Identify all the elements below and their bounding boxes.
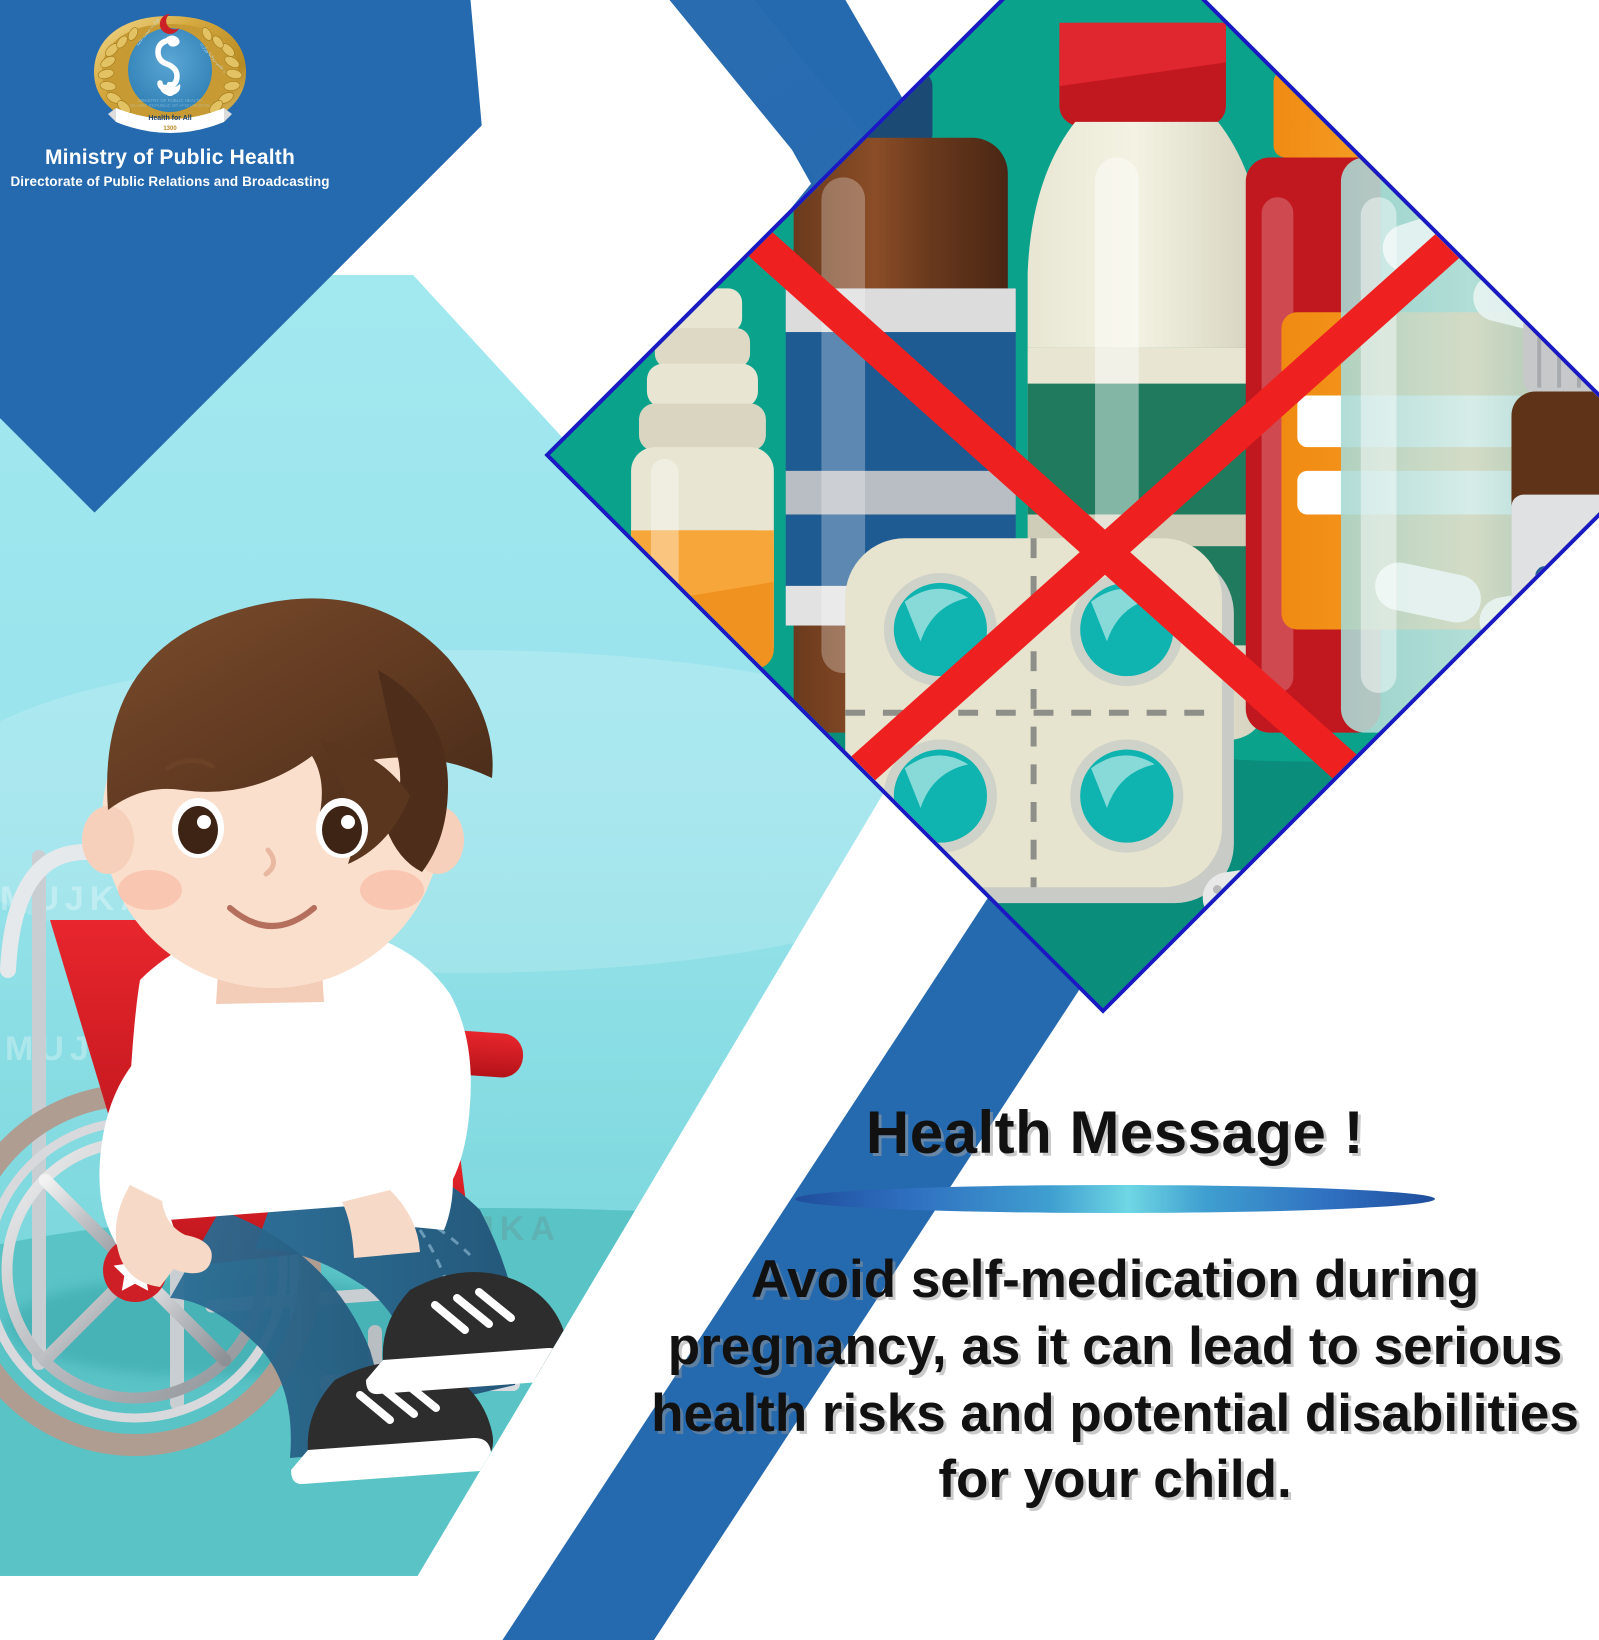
boy-head — [82, 598, 493, 988]
poster-canvas: MUJKA MUJKA MUJKA MUJKA — [0, 0, 1599, 1600]
ribbon-text: Health for All — [148, 115, 191, 122]
svg-text:ISLAMIC REPUBLIC OF AFGHANISTA: ISLAMIC REPUBLIC OF AFGHANISTAN — [130, 103, 210, 108]
ministry-header-content: وزارت صحت عامه د عامې روغتیا وزارت MINIS… — [0, 0, 340, 210]
small-brown-dropper-bottle — [1511, 308, 1599, 732]
title-divider-ellipse — [795, 1185, 1435, 1213]
org-subtitle: Directorate of Public Relations and Broa… — [0, 174, 340, 189]
loose-capsules — [1199, 856, 1499, 962]
ribbon-year: 1300 — [163, 126, 177, 132]
message-block: Health Message ! Avoid self-medication d… — [640, 1098, 1590, 1514]
message-title: Health Message ! — [640, 1098, 1590, 1167]
ministry-logo: وزارت صحت عامه د عامې روغتیا وزارت MINIS… — [70, 10, 270, 138]
message-body: Avoid self-medication during pregnancy, … — [640, 1247, 1590, 1514]
org-title: Ministry of Public Health — [0, 146, 340, 170]
ministry-of-public-health-emblem-icon: وزارت صحت عامه د عامې روغتیا وزارت MINIS… — [70, 10, 270, 138]
